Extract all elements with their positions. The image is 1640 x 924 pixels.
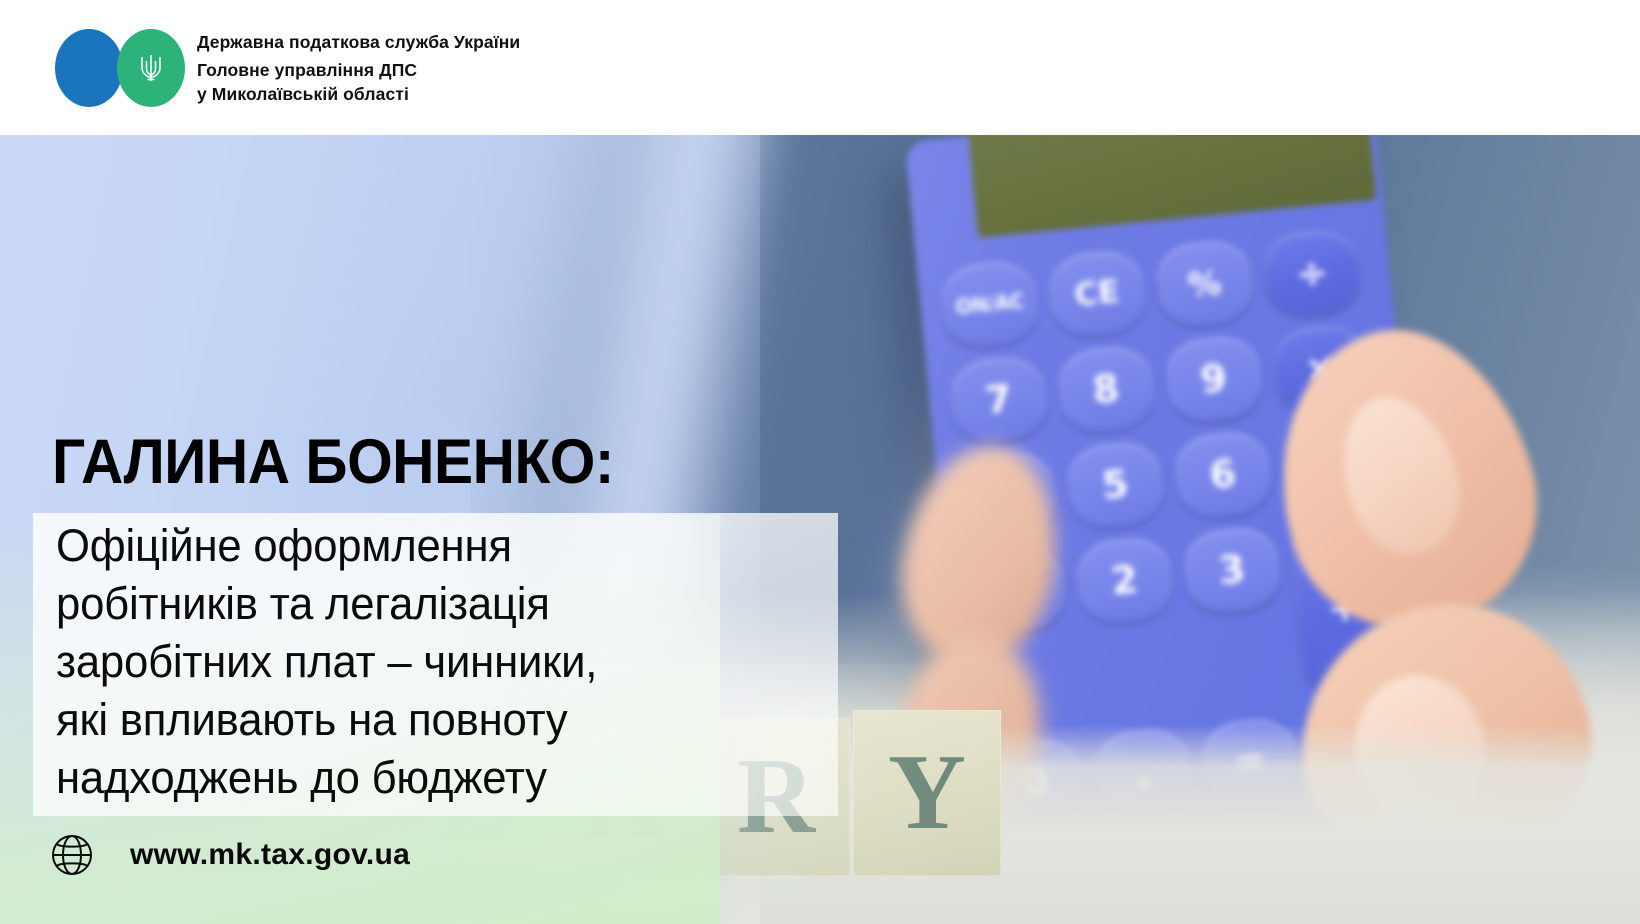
ukraine-trident-icon [138,51,164,85]
calculator-key-divide: ÷ [1261,228,1362,319]
quote-line: надходжень до бюджету [56,749,793,807]
quote-line: робітників та легалізація [56,575,793,633]
calculator-key-6: 6 [1172,429,1273,520]
calculator-key-on-ac: ON/AC [939,259,1040,350]
wooden-block-letter: Y [853,710,1001,876]
hero-banner: ON/AC CE % ÷ 7 8 9 × 4 [0,135,1640,924]
quote-line: які впливають на повноту [56,691,793,749]
calculator-key-8: 8 [1056,344,1157,435]
site-footer: www.mk.tax.gov.ua [50,833,410,877]
calculator-lcd-screen [968,135,1377,238]
calculator-key-percent: % [1154,238,1255,329]
calculator-key-3: 3 [1182,525,1283,616]
agency-line-3: у Миколаївській області [197,82,520,106]
quote-line: Офіційне оформлення [56,517,793,575]
agency-name-block: Державна податкова служба України Головн… [197,30,520,106]
calculator-key-5: 5 [1065,439,1166,530]
site-header: Державна податкова служба України Головн… [0,0,1640,135]
calculator-key-ce: CE [1046,248,1147,339]
agency-logo [55,29,185,107]
quote-line: заробітних плат – чинники, [56,633,793,691]
agency-line-2: Головне управління ДПС [197,58,520,82]
agency-line-1: Державна податкова служба України [197,30,520,54]
logo-green-circle-icon [117,29,185,107]
logo-blue-circle-icon [55,29,123,107]
calculator-key-9: 9 [1163,334,1264,425]
quote-text: Офіційне оформлення робітників та легалі… [56,517,793,807]
calculator-key-2: 2 [1074,535,1175,626]
website-url[interactable]: www.mk.tax.gov.ua [130,838,410,872]
calculator-key-7: 7 [948,354,1049,445]
globe-icon [50,833,94,877]
page-title: ГАЛИНА БОНЕНКО: [52,427,614,497]
poster-root: Державна податкова служба України Головн… [0,0,1640,924]
